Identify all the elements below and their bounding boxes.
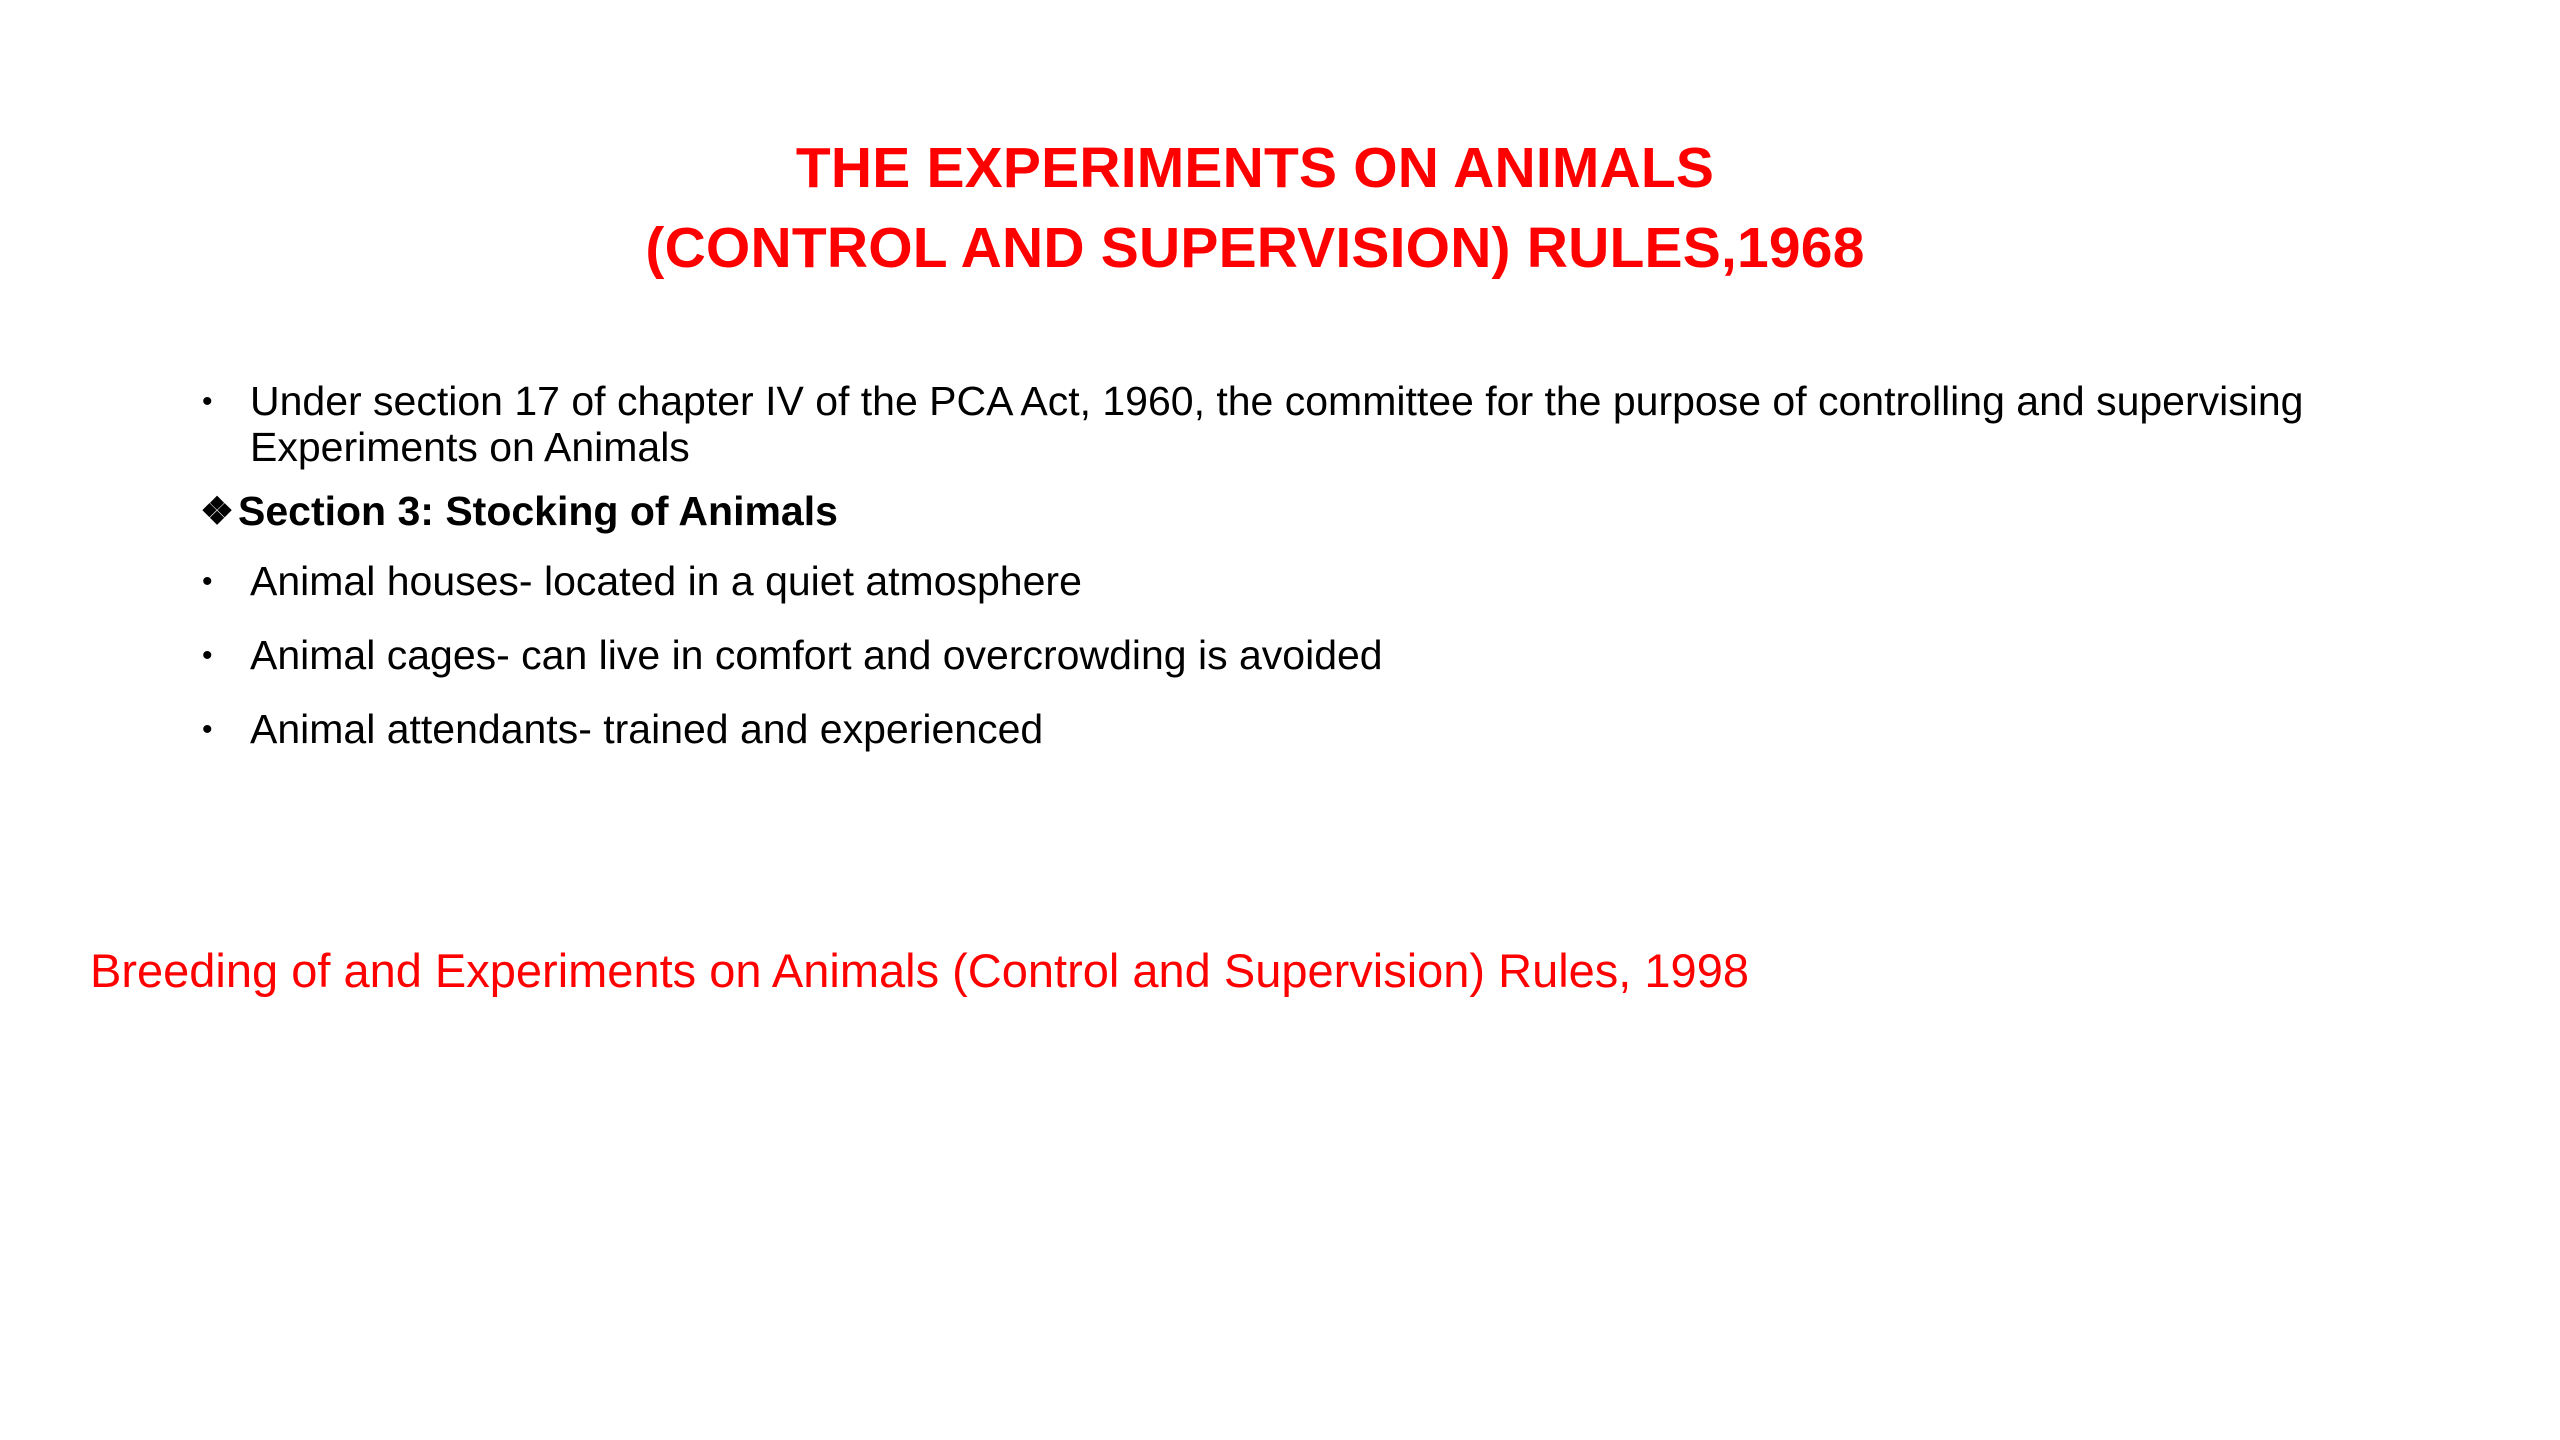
list-item-label: Animal houses- located in a quiet atmosp…	[250, 558, 2311, 604]
diamond-flower-bullet-icon: ❖	[200, 488, 238, 536]
page-title-line-2: (CONTROL AND SUPERVISION) RULES,1968	[0, 208, 2510, 288]
list-item: • Under section 17 of chapter IV of the …	[196, 378, 2311, 470]
list-item-label: Under section 17 of chapter IV of the PC…	[250, 378, 2311, 470]
bullet-dot-icon: •	[196, 558, 250, 606]
list-item: • Animal houses- located in a quiet atmo…	[196, 558, 2311, 606]
page-title-line-1: THE EXPERIMENTS ON ANIMALS	[0, 128, 2510, 208]
bullet-dot-icon: •	[196, 378, 250, 426]
list-item: • Animal attendants- trained and experie…	[196, 706, 2311, 754]
page-title: THE EXPERIMENTS ON ANIMALS (CONTROL AND …	[0, 128, 2510, 288]
list-item-label: Animal cages- can live in comfort and ov…	[250, 632, 2311, 678]
list-item-label: Animal attendants- trained and experienc…	[250, 706, 2311, 752]
bullet-dot-icon: •	[196, 632, 250, 680]
footer-note: Breeding of and Experiments on Animals (…	[90, 943, 1749, 999]
bullet-list: • Under section 17 of chapter IV of the …	[196, 378, 2311, 780]
list-item: • Animal cages- can live in comfort and …	[196, 632, 2311, 680]
list-item-label: Section 3: Stocking of Animals	[238, 488, 2311, 534]
list-item-section-heading: ❖ Section 3: Stocking of Animals	[200, 488, 2311, 536]
slide-canvas: THE EXPERIMENTS ON ANIMALS (CONTROL AND …	[0, 0, 2560, 1440]
bullet-dot-icon: •	[196, 706, 250, 754]
